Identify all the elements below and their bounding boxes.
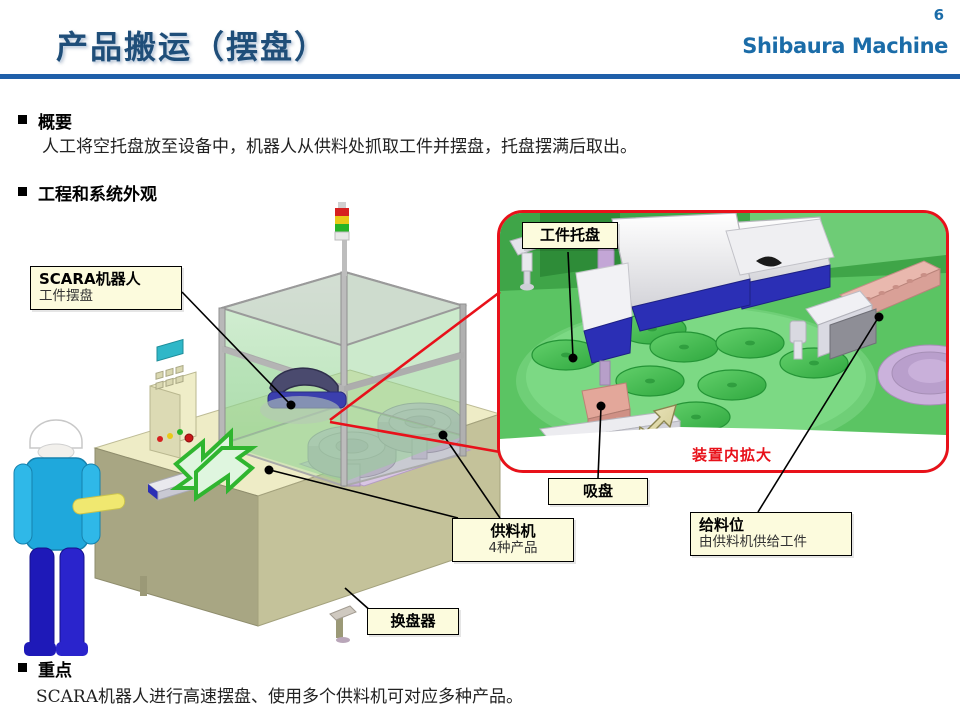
bullet-square-icon — [18, 115, 27, 124]
callout-scara-robot[interactable]: SCARA机器人 工件摆盘 — [30, 266, 182, 310]
overview-heading-label: 概要 — [38, 108, 72, 133]
machine-enclosure — [219, 272, 466, 486]
title-divider — [0, 74, 960, 79]
page-number: 6 — [934, 6, 944, 24]
callout-scara-title: SCARA机器人 — [39, 270, 173, 288]
bullet-square-icon — [18, 187, 27, 196]
callout-changer-title: 换盘器 — [376, 612, 450, 630]
signal-tower-light — [335, 202, 349, 276]
overview-body-text: 人工将空托盘放至设备中，机器人从供料处抓取工件并摆盘，托盘摆满后取出。 — [42, 132, 637, 157]
callout-workpiece-tray[interactable]: 工件托盘 — [522, 222, 618, 249]
operator-control-panel — [150, 340, 196, 458]
callout-feeder[interactable]: 供料机 4种产品 — [452, 518, 574, 562]
callout-suction-title: 吸盘 — [557, 482, 639, 500]
detail-illustration — [500, 213, 946, 470]
detail-zoom-panel — [497, 210, 949, 473]
callout-feeder-sub: 4种产品 — [461, 540, 565, 557]
callout-tray-title: 工件托盘 — [531, 226, 609, 244]
brand-logo: Shibaura Machine — [742, 34, 948, 58]
section-overview-heading: 概要 — [18, 108, 72, 133]
callout-supplypos-title: 给料位 — [699, 516, 843, 534]
callout-scara-sub: 工件摆盘 — [39, 288, 173, 305]
callout-tray-changer[interactable]: 换盘器 — [367, 608, 459, 635]
callout-supplypos-sub: 由供料机供给工件 — [699, 534, 843, 551]
callout-supply-position[interactable]: 给料位 由供料机供给工件 — [690, 512, 852, 556]
detail-panel-caption: 装置内拡大 — [692, 444, 772, 465]
callout-suction-cup[interactable]: 吸盘 — [548, 478, 648, 505]
keypoint-body-text: SCARA机器人进行高速摆盘、使用多个供料机可对应多种产品。 — [36, 682, 523, 707]
callout-feeder-title: 供料机 — [461, 522, 565, 540]
page-title: 产品搬运（摆盘） — [56, 22, 328, 68]
